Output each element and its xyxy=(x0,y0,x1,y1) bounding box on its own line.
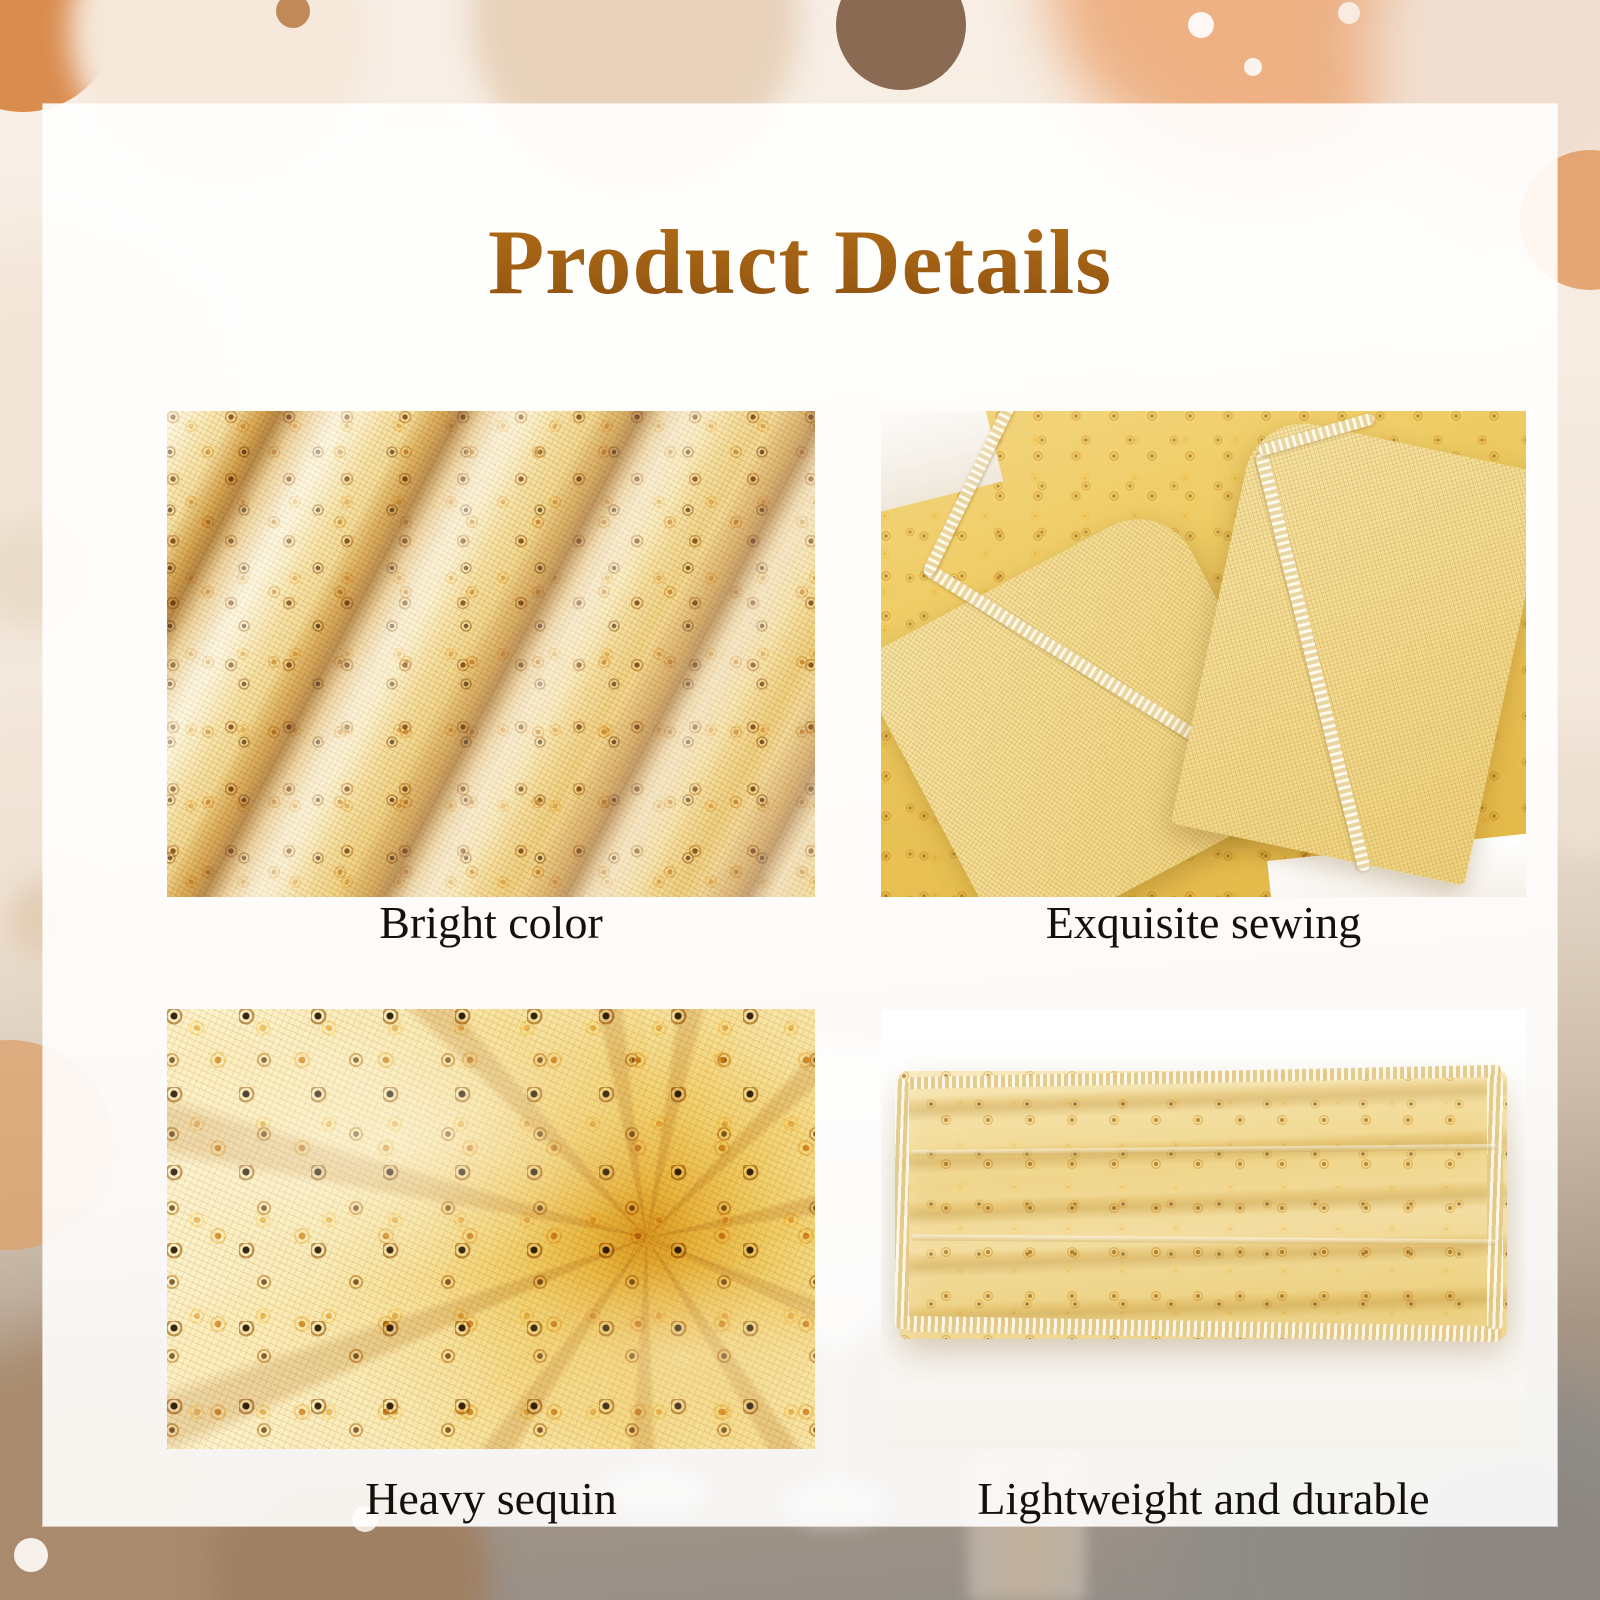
sequin-ring-layer xyxy=(899,1071,1507,1339)
detail-caption-heavy-sequin: Heavy sequin xyxy=(167,1476,815,1522)
detail-image-lightweight-and-durable xyxy=(881,1009,1526,1449)
background-dot-white-bottomleft xyxy=(14,1538,48,1572)
detail-image-exquisite-sewing xyxy=(881,411,1526,897)
content-card: Product Details Bright color Exquisite xyxy=(43,104,1557,1526)
runner-hem-edge-right xyxy=(1487,1075,1503,1329)
folded-table-runner xyxy=(899,1071,1507,1339)
detail-image-bright-color xyxy=(167,411,815,897)
detail-caption-exquisite-sewing: Exquisite sewing xyxy=(881,900,1526,946)
detail-caption-bright-color: Bright color xyxy=(167,900,815,946)
background-dot-white-topright-a xyxy=(1188,12,1214,38)
page-title: Product Details xyxy=(43,214,1557,311)
runner-hem-edge-left xyxy=(895,1079,909,1329)
fabric-sheen-layer xyxy=(167,411,815,897)
background-dot-white-topright-c xyxy=(1338,2,1360,24)
detail-caption-lightweight-and-durable: Lightweight and durable xyxy=(881,1476,1526,1522)
background-dot-white-topright-b xyxy=(1244,58,1262,76)
detail-image-heavy-sequin xyxy=(167,1009,815,1449)
fabric-sheen-layer xyxy=(167,1009,815,1449)
infographic-root: Product Details Bright color Exquisite xyxy=(0,0,1600,1600)
